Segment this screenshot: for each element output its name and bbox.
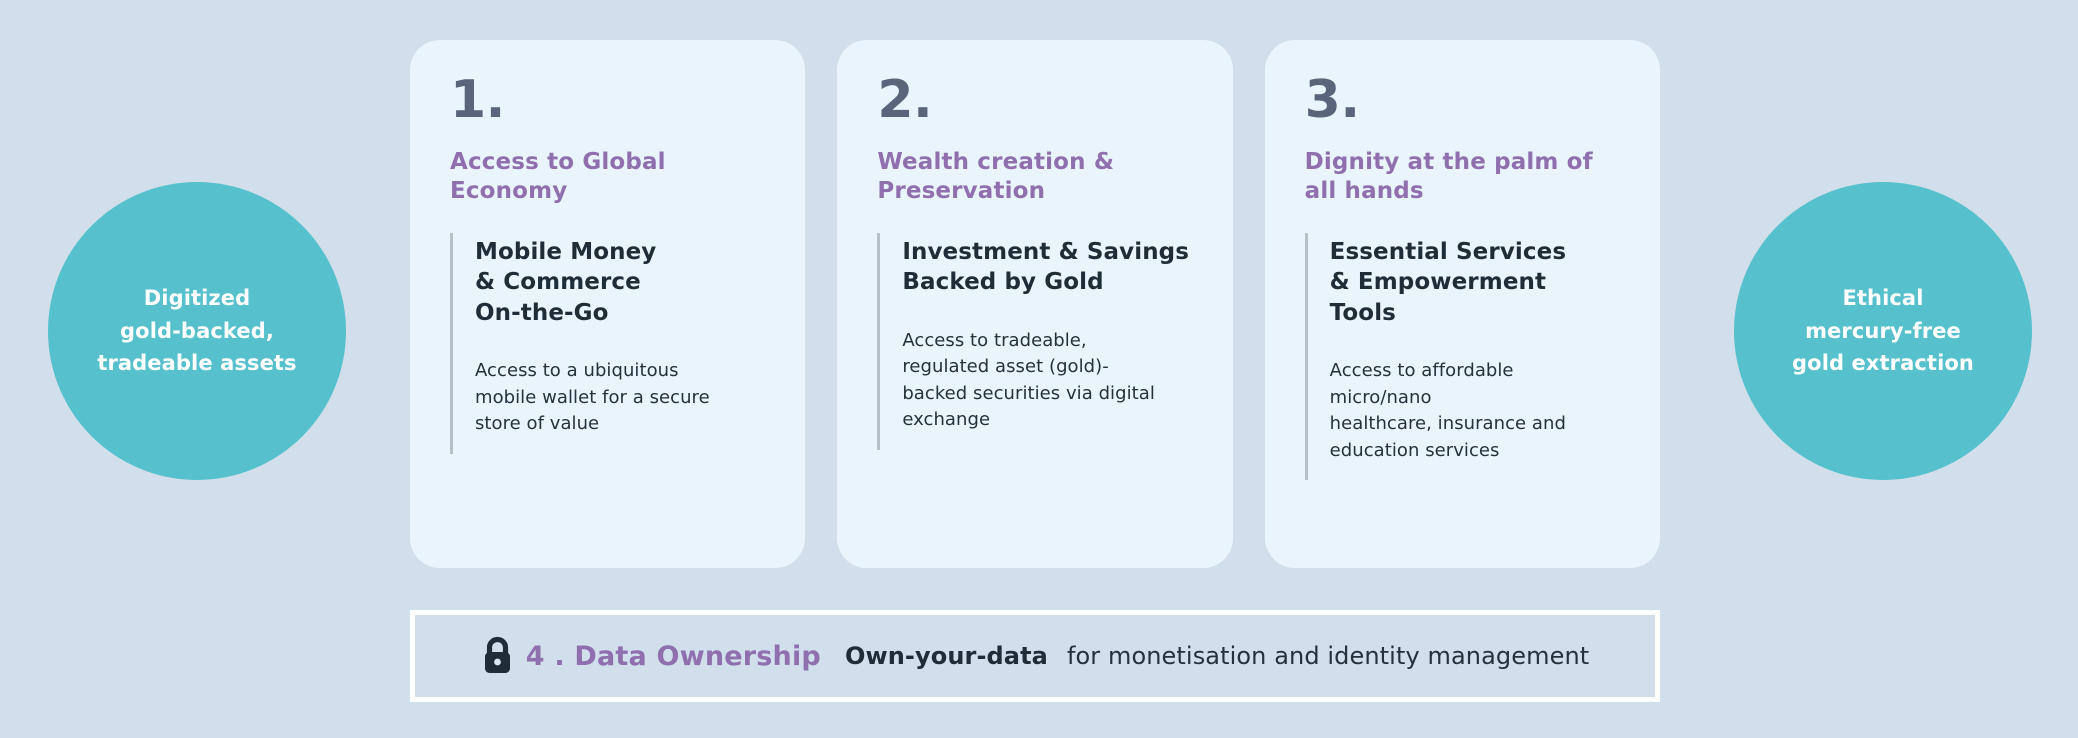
card-detail-block: Essential Services & Empowerment Tools A… xyxy=(1305,233,1620,481)
pillar-card-3[interactable]: 3. Dignity at the palm of all hands Esse… xyxy=(1265,40,1660,568)
pillar-cards-row: 1. Access to Global Economy Mobile Money… xyxy=(410,40,1660,568)
card-number: 1. xyxy=(450,74,765,126)
circle-ethical-gold: Ethical mercury-free gold extraction xyxy=(1734,182,2032,480)
card-title: Wealth creation & Preservation xyxy=(877,148,1192,207)
circle-digitized-assets: Digitized gold-backed, tradeable assets xyxy=(48,182,346,480)
card-detail-heading: Mobile Money & Commerce On-the-Go xyxy=(475,237,765,328)
card-detail-body: Access to affordable micro/nano healthca… xyxy=(1330,358,1620,465)
card-title: Access to Global Economy xyxy=(450,148,765,207)
pillar-card-2[interactable]: 2. Wealth creation & Preservation Invest… xyxy=(837,40,1232,568)
card-detail-body: Access to a ubiquitous mobile wallet for… xyxy=(475,358,765,438)
banner-number-label: 4 . Data Ownership xyxy=(526,641,821,672)
banner-content: 4 . Data Ownership Own-your-data for mon… xyxy=(481,636,1590,676)
card-number: 2. xyxy=(877,74,1192,126)
card-detail-heading: Investment & Savings Backed by Gold xyxy=(902,237,1192,298)
card-number: 3. xyxy=(1305,74,1620,126)
card-detail-block: Mobile Money & Commerce On-the-Go Access… xyxy=(450,233,765,454)
card-detail-body: Access to tradeable, regulated asset (go… xyxy=(902,328,1192,435)
card-detail-heading: Essential Services & Empowerment Tools xyxy=(1330,237,1620,328)
lock-icon xyxy=(481,636,514,676)
circle-left-label: Digitized gold-backed, tradeable assets xyxy=(97,282,296,380)
card-title: Dignity at the palm of all hands xyxy=(1305,148,1620,207)
banner-strong-text: Own-your-data xyxy=(845,642,1048,670)
data-ownership-banner[interactable]: 4 . Data Ownership Own-your-data for mon… xyxy=(410,610,1660,702)
card-detail-block: Investment & Savings Backed by Gold Acce… xyxy=(877,233,1192,450)
circle-right-label: Ethical mercury-free gold extraction xyxy=(1792,282,1974,380)
pillar-card-1[interactable]: 1. Access to Global Economy Mobile Money… xyxy=(410,40,805,568)
banner-rest-text: for monetisation and identity management xyxy=(1067,642,1589,670)
